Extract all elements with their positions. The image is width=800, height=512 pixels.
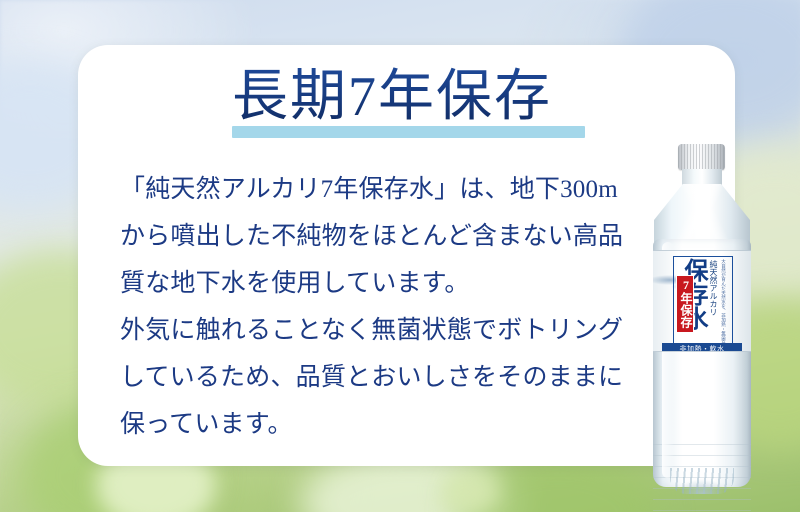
bottle-base bbox=[670, 468, 734, 494]
label-bottom-band-text: 非加熱・軟水 bbox=[680, 344, 725, 353]
label-subtitle: 純天然アルカリ bbox=[709, 260, 718, 316]
bottle-neck bbox=[682, 169, 722, 186]
label-fine-print: 大自然が育んだ天然水を、非加熱・無菌充填で瓶詰しました。 bbox=[721, 259, 727, 352]
headline-group: 長期7年保存 bbox=[232, 64, 552, 142]
label-storage-badge: 7年保存 bbox=[676, 275, 694, 333]
bottle-shoulder bbox=[654, 184, 750, 242]
page-title: 長期7年保存 bbox=[232, 64, 552, 130]
body-copy: 「純天然アルカリ7年保存水」は、地下300mから噴出した不純物をほとんど含まない… bbox=[120, 166, 640, 448]
body-paragraph-2: 外気に触れることなく無菌状態でボトリングしているため、品質とおいしさをそのままに… bbox=[120, 307, 640, 448]
promotional-banner: 長期7年保存 「純天然アルカリ7年保存水」は、地下300mから噴出した不純物をほ… bbox=[0, 0, 800, 512]
bottle-cap bbox=[678, 144, 725, 170]
bottle-label: 大自然が育んだ天然水を、非加熱・無菌充填で瓶詰しました。 純天然アルカリ 保存水… bbox=[653, 250, 751, 352]
label-storage-badge-text: 7年保存 bbox=[679, 278, 692, 328]
bokeh-blob bbox=[440, 470, 500, 512]
label-bottom-band: 非加熱・軟水 bbox=[662, 343, 742, 352]
body-paragraph-1: 「純天然アルカリ7年保存水」は、地下300mから噴出した不純物をほとんど含まない… bbox=[120, 166, 640, 307]
product-bottle-image: 大自然が育んだ天然水を、非加熱・無菌充填で瓶詰しました。 純天然アルカリ 保存水… bbox=[648, 144, 756, 496]
